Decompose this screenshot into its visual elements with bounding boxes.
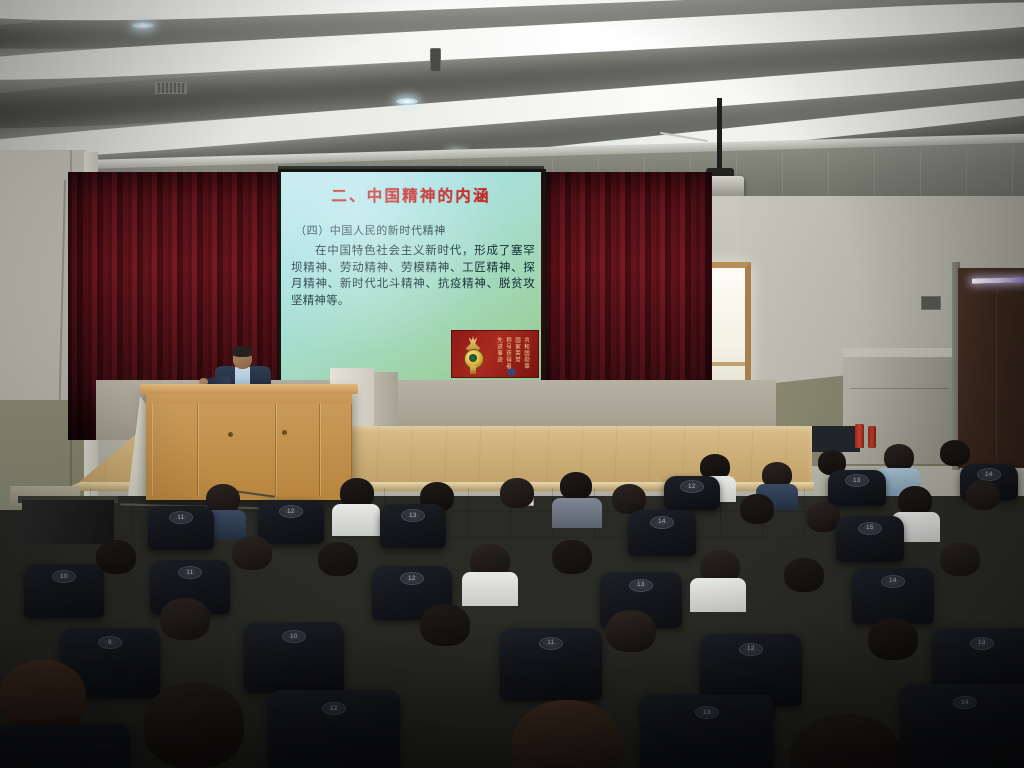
audience-head xyxy=(868,618,918,660)
seat-number: 12 xyxy=(680,480,704,493)
seat[interactable]: 14 xyxy=(900,684,1024,768)
audience-head xyxy=(232,536,272,570)
audience-head xyxy=(512,700,622,768)
seat[interactable]: 14 xyxy=(852,568,934,624)
ceiling-vent xyxy=(155,82,187,94)
seat-number: 13 xyxy=(845,474,869,487)
audience-seating: 12 13 14 11 12 13 14 xyxy=(0,432,1024,768)
ceiling-hanger xyxy=(430,48,441,72)
seat[interactable]: 12 xyxy=(664,476,720,510)
seat-number: 14 xyxy=(650,516,674,529)
seat-number: 10 xyxy=(282,630,306,643)
audience-head xyxy=(160,598,210,640)
audience-head xyxy=(790,714,902,768)
projector-mount-pole xyxy=(717,98,722,176)
seat-number: 15 xyxy=(858,522,882,535)
audience-head xyxy=(420,604,470,646)
audience-head xyxy=(966,480,1000,510)
audience-head xyxy=(500,478,534,508)
seat[interactable]: 12 xyxy=(268,690,400,768)
seat[interactable]: 15 xyxy=(836,516,904,562)
seat-number: 12 xyxy=(322,702,346,715)
seat-number: 14 xyxy=(953,696,977,709)
wall-equipment-box-seam xyxy=(850,388,948,389)
seat-number: 12 xyxy=(279,505,303,518)
ceiling-spotlight xyxy=(132,22,154,29)
seat-number: 13 xyxy=(695,706,719,719)
seat-number: 13 xyxy=(970,637,994,650)
audience-head xyxy=(318,542,358,576)
presenter-hair xyxy=(232,346,253,357)
seat[interactable]: 13 xyxy=(828,470,886,506)
seat-number: 12 xyxy=(739,643,763,656)
seat[interactable]: 11 xyxy=(500,628,602,700)
audience-head xyxy=(740,494,774,524)
audience-head xyxy=(552,540,592,574)
seat-number: 14 xyxy=(881,575,905,588)
seat[interactable]: 11 xyxy=(148,506,214,550)
seat-number: 11 xyxy=(169,511,193,524)
audience-torso xyxy=(552,498,602,528)
seat-number: 12 xyxy=(400,572,424,585)
audience-head xyxy=(784,558,824,592)
audience-torso xyxy=(462,572,518,606)
audience-head xyxy=(144,682,244,768)
seat-number: 11 xyxy=(539,637,563,650)
seat[interactable]: 10 xyxy=(24,564,104,618)
podium-top-surface xyxy=(140,384,358,394)
audience-head xyxy=(806,502,840,532)
seat-number: 10 xyxy=(52,570,76,583)
wall-equipment-box-top xyxy=(843,348,955,357)
seat[interactable]: 13 xyxy=(380,504,446,548)
seat[interactable]: 14 xyxy=(628,510,696,556)
audience-head xyxy=(940,542,980,576)
seat-number: 9 xyxy=(98,636,122,649)
audience-head xyxy=(606,610,656,652)
ceiling-spotlight xyxy=(396,98,418,105)
audience-head xyxy=(884,444,914,471)
wall-control-plate[interactable] xyxy=(921,296,941,310)
audience-torso xyxy=(690,578,746,612)
seat-number: 11 xyxy=(178,566,202,579)
seat[interactable] xyxy=(0,724,130,768)
seat[interactable]: 12 xyxy=(258,500,324,544)
audience-head xyxy=(560,472,592,500)
seat-number: 13 xyxy=(629,579,653,592)
audience-torso xyxy=(332,504,380,536)
screen-border xyxy=(278,169,546,393)
seat[interactable]: 13 xyxy=(640,694,774,768)
seat[interactable]: 10 xyxy=(244,622,344,692)
audience-head xyxy=(0,660,86,734)
auditorium-scene: 二、中国精神的内涵 （四）中国人民的新时代精神 在中国特色社会主义新时代，形成了… xyxy=(0,0,1024,768)
seat-number: 13 xyxy=(401,509,425,522)
audience-head xyxy=(940,440,970,466)
